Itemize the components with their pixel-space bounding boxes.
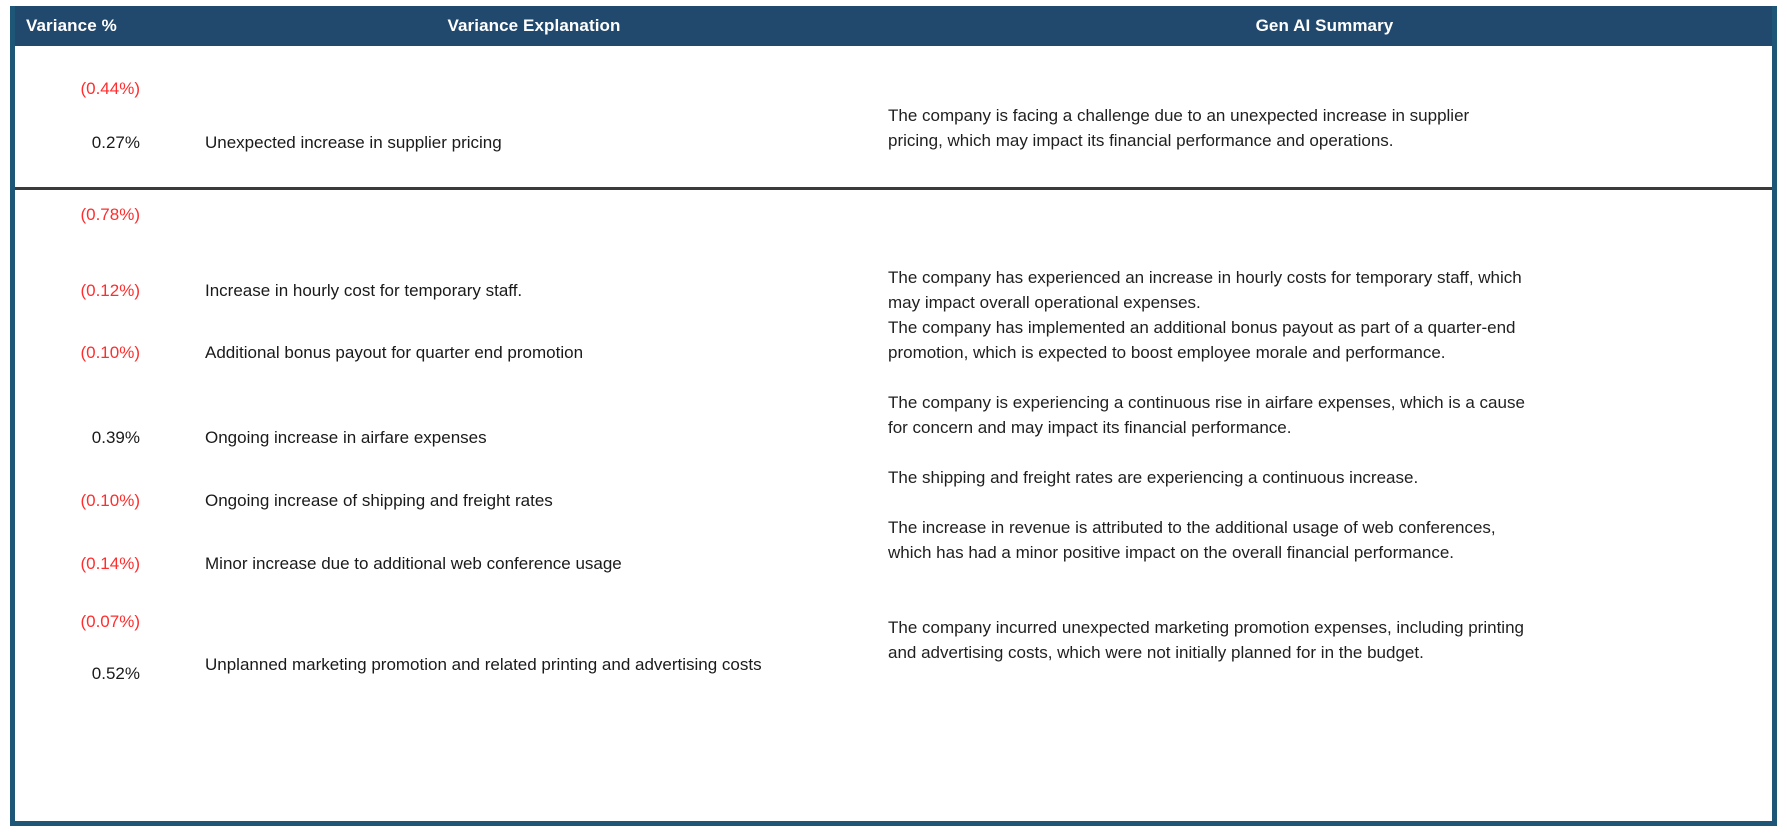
- screenshot-root: Variance % Variance Explanation Gen AI S…: [0, 0, 1787, 833]
- row-variance-pct: 0.39%: [15, 427, 140, 449]
- column-header-variance-explanation[interactable]: Variance Explanation: [191, 16, 877, 36]
- row-gen-ai-summary: The shipping and freight rates are exper…: [888, 465, 1528, 490]
- section-variance-explanation-column: Increase in hourly cost for temporary st…: [191, 190, 877, 716]
- column-header-gen-ai-summary[interactable]: Gen AI Summary: [877, 16, 1772, 36]
- section-subtotal-variance-pct: (0.44%): [15, 78, 140, 100]
- row-variance-explanation: Increase in hourly cost for temporary st…: [205, 278, 865, 303]
- row-variance-pct: (0.14%): [15, 553, 140, 575]
- variance-table: Variance % Variance Explanation Gen AI S…: [10, 6, 1777, 826]
- row-variance-pct: 0.52%: [15, 663, 140, 685]
- table-body: (0.44%) 0.27% Unexpected increase in sup…: [15, 46, 1772, 716]
- row-variance-pct: (0.07%): [15, 611, 140, 633]
- row-variance-pct: (0.12%): [15, 280, 140, 302]
- row-gen-ai-summary: The company is experiencing a continuous…: [888, 390, 1528, 440]
- row-variance-explanation: Additional bonus payout for quarter end …: [205, 340, 865, 365]
- row-variance-explanation: Ongoing increase in airfare expenses: [205, 425, 865, 450]
- section-subtotal-variance-pct: (0.78%): [15, 204, 140, 226]
- table-section: (0.44%) 0.27% Unexpected increase in sup…: [15, 46, 1772, 187]
- row-gen-ai-summary: The company has implemented an additiona…: [888, 315, 1528, 365]
- row-gen-ai-summary: The increase in revenue is attributed to…: [888, 515, 1528, 565]
- row-gen-ai-summary: The company incurred unexpected marketin…: [888, 615, 1528, 665]
- row-variance-pct: (0.10%): [15, 342, 140, 364]
- section-variance-pct-column: (0.44%) 0.27%: [15, 46, 191, 187]
- column-header-variance-pct[interactable]: Variance %: [15, 16, 191, 36]
- row-variance-explanation: Unplanned marketing promotion and relate…: [205, 652, 841, 677]
- row-variance-pct: (0.10%): [15, 490, 140, 512]
- row-variance-pct: 0.27%: [15, 132, 140, 154]
- row-variance-explanation: Ongoing increase of shipping and freight…: [205, 488, 865, 513]
- row-gen-ai-summary: The company has experienced an increase …: [888, 265, 1528, 315]
- section-variance-explanation-column: Unexpected increase in supplier pricing: [191, 46, 877, 187]
- row-variance-explanation: Minor increase due to additional web con…: [205, 551, 865, 576]
- table-header-row: Variance % Variance Explanation Gen AI S…: [15, 6, 1772, 46]
- section-variance-pct-column: (0.78%) (0.12%) (0.10%) 0.39% (0.10%) (0…: [15, 190, 191, 716]
- table-section: (0.78%) (0.12%) (0.10%) 0.39% (0.10%) (0…: [15, 187, 1772, 716]
- row-gen-ai-summary: The company is facing a challenge due to…: [888, 103, 1528, 153]
- section-gen-ai-summary-column: The company has experienced an increase …: [877, 190, 1772, 716]
- section-gen-ai-summary-column: The company is facing a challenge due to…: [877, 46, 1772, 187]
- row-variance-explanation: Unexpected increase in supplier pricing: [205, 130, 865, 155]
